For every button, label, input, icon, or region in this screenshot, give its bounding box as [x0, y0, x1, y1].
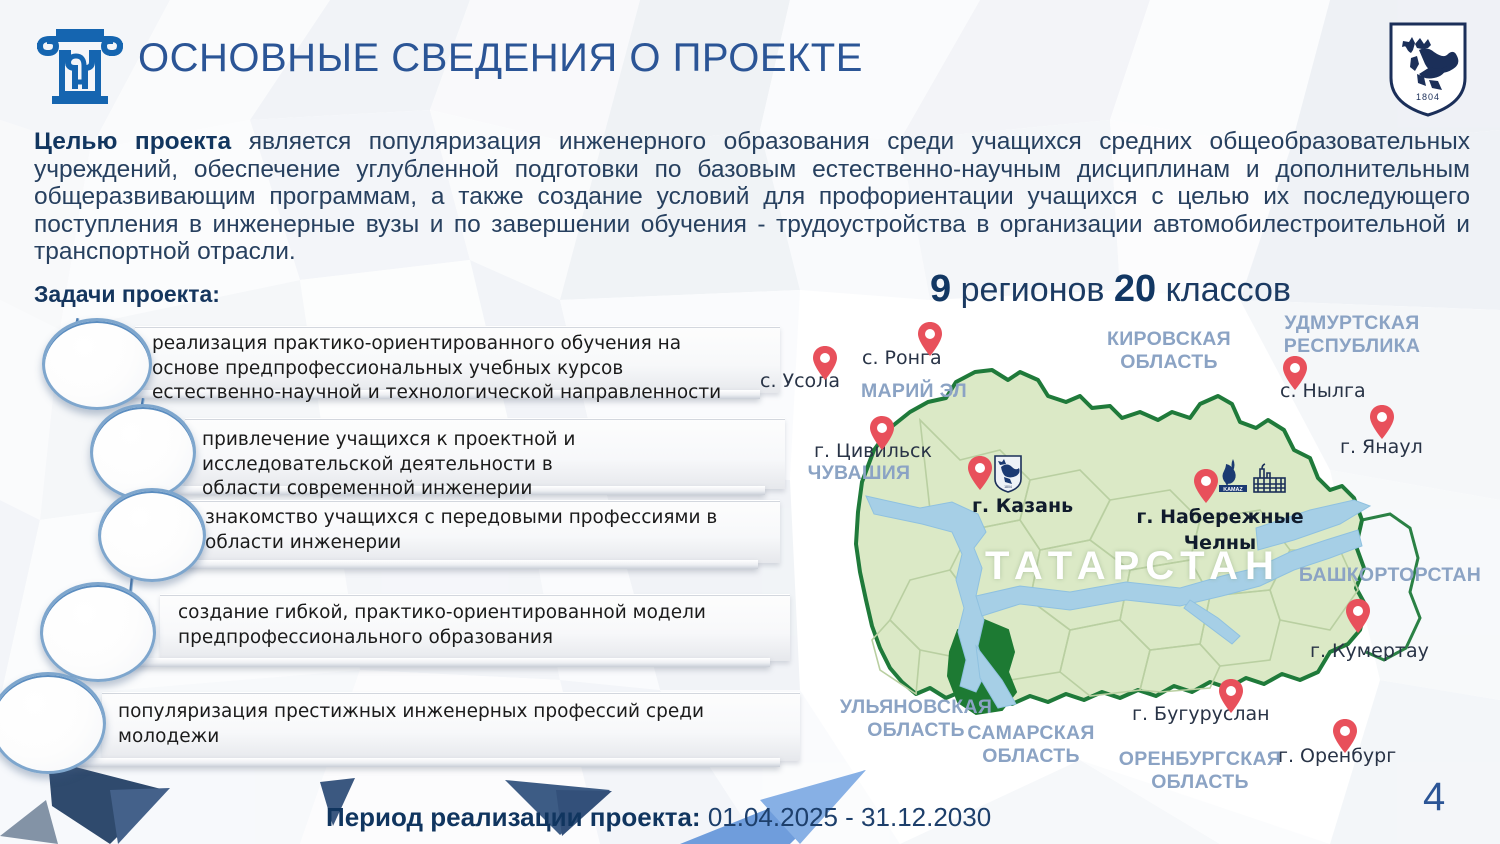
kamaz-logo-icon: KAMAZ [1216, 458, 1250, 494]
region-label-orenburg: ОРЕНБУРГСКАЯ ОБЛАСТЬ [1114, 748, 1286, 794]
kazan-coat-of-arms-icon: 1804 [993, 455, 1023, 493]
task-bubble-3[interactable] [98, 488, 206, 582]
svg-text:1804: 1804 [1004, 485, 1012, 489]
factory-icon [1253, 462, 1287, 494]
page-number: 4 [1423, 775, 1445, 820]
goal-body: является популяризация инженерного образ… [34, 128, 1470, 265]
column-logo-icon [34, 26, 126, 108]
city-label-chelny-text: г. Набережные Челны [1136, 506, 1303, 554]
city-label-kumertau: г. Кумертау [1310, 640, 1429, 662]
project-goal-paragraph: Целью проекта является популяризация инж… [34, 128, 1470, 266]
map-pin-icon-kazan[interactable] [967, 455, 993, 491]
task-bubble-1[interactable] [42, 318, 152, 410]
region-label-chuvashia: ЧУВАШИЯ [794, 462, 924, 485]
task-item-5[interactable]: популяризация престижных инженерных проф… [0, 692, 800, 772]
region-label-udmurtia: УДМУРТСКАЯ РЕСПУБЛИКА [1272, 312, 1432, 358]
task-bar-foot [158, 560, 758, 569]
task-text: создание гибкой, практико-ориентированно… [178, 601, 778, 650]
project-period: Период реализации проекта: 01.04.2025 - … [326, 802, 991, 833]
task-text: привлечение учащихся к проектной и иссле… [202, 428, 632, 502]
map-pin-icon-kumertau[interactable] [1345, 598, 1371, 634]
city-label-chelny: г. Набережные Челны [1130, 504, 1310, 556]
task-bubble-4[interactable] [40, 582, 156, 682]
task-bubble-2[interactable] [90, 404, 196, 500]
map-pin-icon-buguruslan[interactable] [1218, 678, 1244, 714]
classes-count: 20 [1114, 268, 1156, 310]
task-text: популяризация престижных инженерных проф… [118, 700, 788, 749]
slide-root: ОСНОВНЫЕ СВЕДЕНИЯ О ПРОЕКТЕ 1804 Целью п… [0, 0, 1500, 844]
region-label-bashkortostan: БАШКОРТОРСТАН [1290, 564, 1490, 587]
task-text: знакомство учащихся с передовыми професс… [205, 506, 775, 555]
city-label-buguruslan: г. Бугуруслан [1132, 703, 1270, 725]
regions-word: регионов [951, 271, 1114, 309]
region-label-kirov: КИРОВСКАЯ ОБЛАСТЬ [1104, 328, 1234, 374]
tasks-heading: Задачи проекта: [34, 281, 220, 308]
map-pin-icon-usola[interactable] [812, 345, 838, 381]
page-title: ОСНОВНЫЕ СВЕДЕНИЯ О ПРОЕКТЕ [138, 36, 863, 81]
goal-lead: Целью проекта [34, 128, 231, 155]
map-pin-icon-tsivilsk[interactable] [869, 415, 895, 451]
region-label-samara: САМАРСКАЯ ОБЛАСТЬ [956, 722, 1106, 768]
city-label-kazan: г. Казань [972, 495, 1073, 517]
map-pin-icon-yanaul[interactable] [1369, 404, 1395, 440]
regions-count: 9 [930, 268, 951, 310]
region-label-mariy-el: МАРИЙ ЭЛ [849, 380, 979, 403]
map-headline: 9 регионов 20 классов [930, 268, 1291, 311]
period-value: 01.04.2025 - 31.12.2030 [701, 802, 992, 832]
task-bar-foot [120, 658, 770, 667]
slide-header: ОСНОВНЫЕ СВЕДЕНИЯ О ПРОЕКТЕ 1804 [0, 0, 1500, 118]
period-label: Период реализации проекта: [326, 802, 701, 832]
map-pin-icon-orenburg[interactable] [1332, 718, 1358, 754]
task-bar-foot [60, 758, 780, 767]
kfu-shield-emblem-icon: 1804 [1385, 20, 1471, 118]
map-pin-icon-ronga[interactable] [917, 321, 943, 357]
classes-word: классов [1156, 271, 1291, 309]
task-text: реализация практико-ориентированного обу… [152, 332, 752, 406]
svg-text:KAMAZ: KAMAZ [1223, 487, 1243, 493]
map-pin-icon-nylga[interactable] [1282, 355, 1308, 391]
emblem-year: 1804 [1416, 92, 1440, 102]
